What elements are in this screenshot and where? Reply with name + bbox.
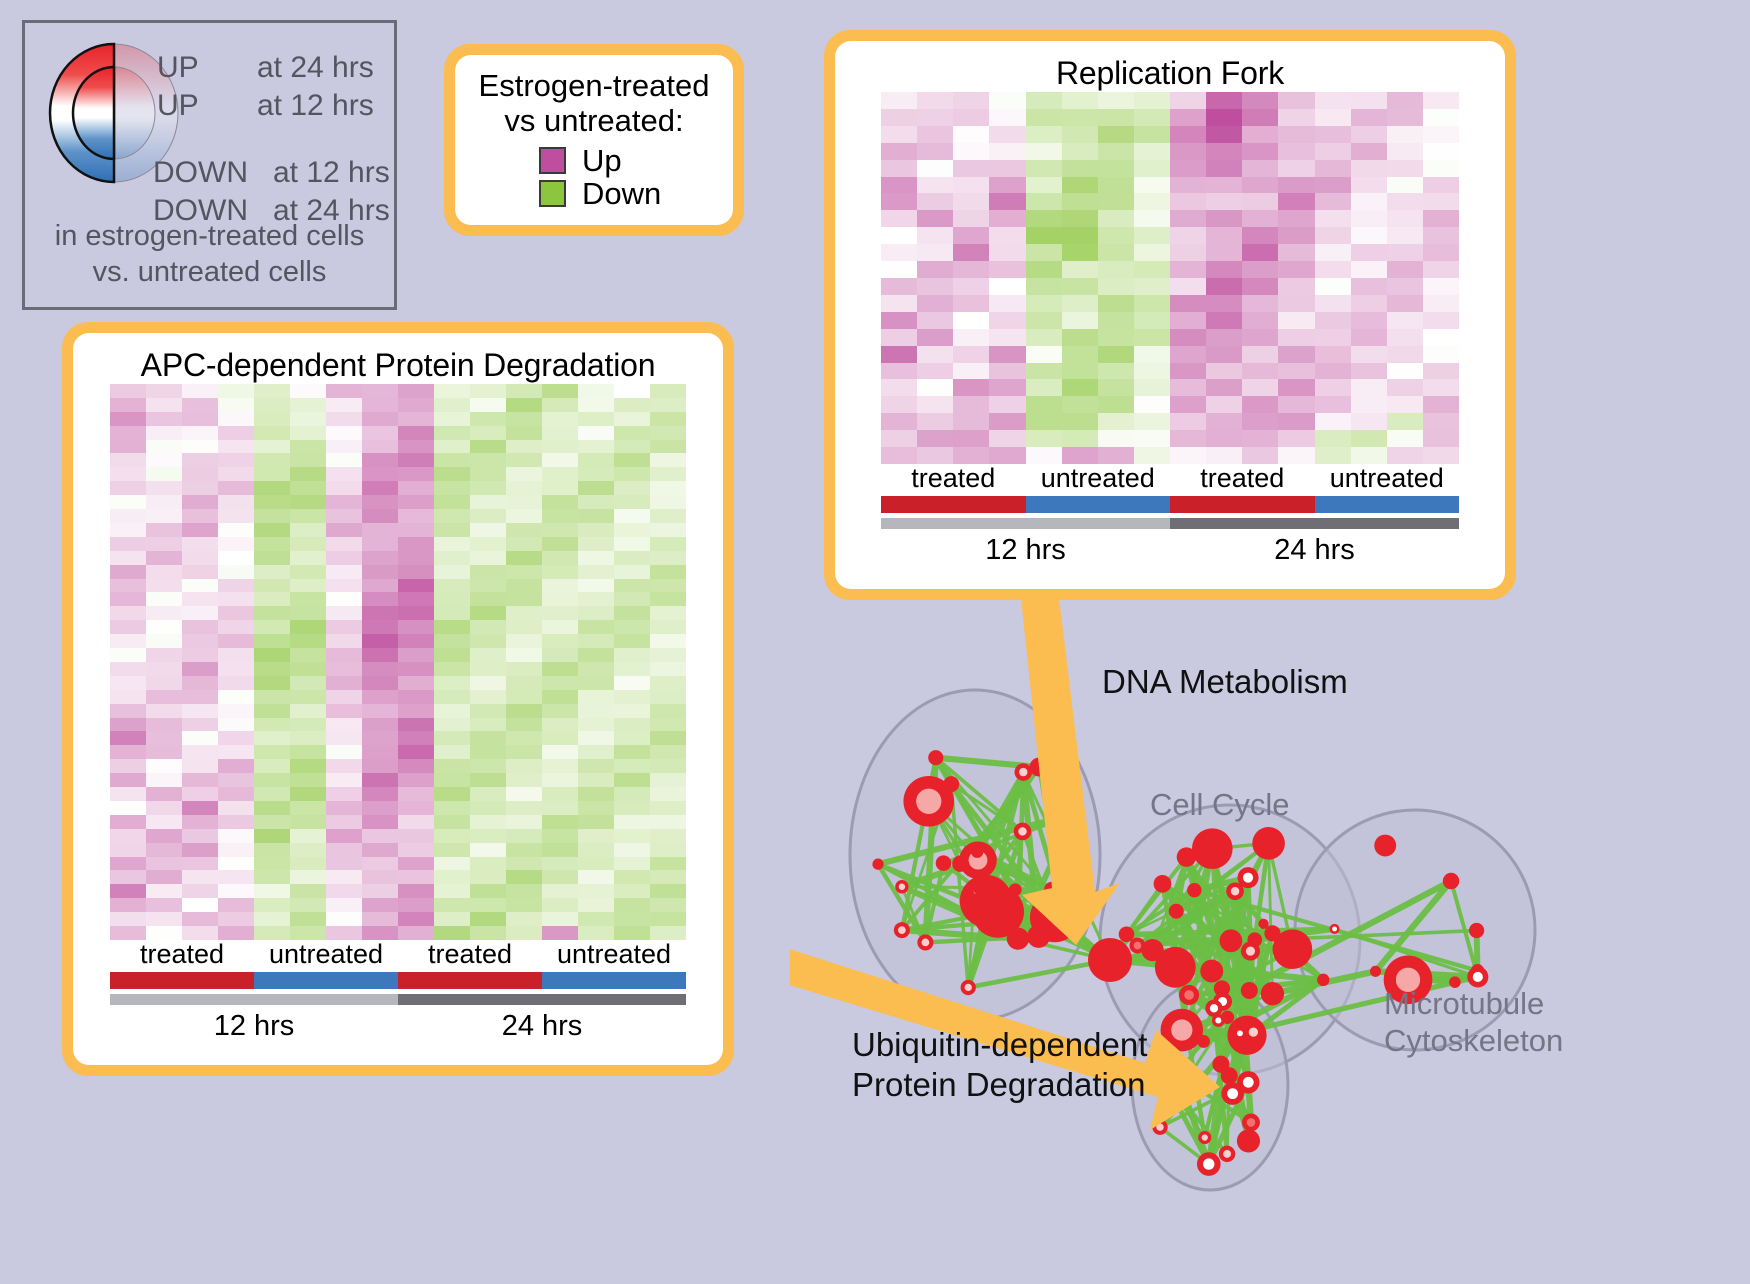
heatmap-cell <box>650 676 686 690</box>
replication-fork-heatmap <box>881 92 1459 464</box>
heatmap-cell <box>1062 430 1098 447</box>
heatmap-cell <box>290 912 326 926</box>
heatmap-cell <box>1098 430 1134 447</box>
heatmap-cell <box>614 745 650 759</box>
heatmap-cell <box>578 620 614 634</box>
heatmap-cell <box>110 398 146 412</box>
heatmap-cell <box>989 177 1025 194</box>
network-node[interactable] <box>1198 1131 1211 1144</box>
heatmap-cell <box>254 481 290 495</box>
apc-group-labels: treateduntreatedtreateduntreated <box>110 940 686 970</box>
heatmap-cell <box>470 509 506 523</box>
heatmap-cell <box>1278 447 1314 464</box>
heatmap-cell <box>506 898 542 912</box>
network-node[interactable] <box>917 934 933 950</box>
network-node[interactable] <box>1317 974 1329 986</box>
heatmap-cell <box>650 634 686 648</box>
heatmap-cell <box>1423 261 1459 278</box>
heatmap-cell <box>578 857 614 871</box>
heatmap-cell <box>650 787 686 801</box>
heatmap-cell <box>254 676 290 690</box>
heatmap-cell <box>362 579 398 593</box>
heatmap-cell <box>290 620 326 634</box>
heatmap-cell <box>1315 396 1351 413</box>
heatmap-cell <box>1387 109 1423 126</box>
heatmap-cell <box>506 620 542 634</box>
network-node[interactable] <box>971 845 984 858</box>
heatmap-cell <box>989 261 1025 278</box>
pathway-network-diagram: DNA Metabolism Cell Cycle Microtubule Cy… <box>790 600 1750 1279</box>
heatmap-cell <box>1170 261 1206 278</box>
network-node[interactable] <box>1261 982 1284 1005</box>
network-node[interactable] <box>1329 924 1339 934</box>
group-label-treated-0: treated <box>110 940 254 970</box>
heatmap-cell <box>650 857 686 871</box>
heatmap-cell <box>1026 261 1062 278</box>
heatmap-cell <box>542 662 578 676</box>
group-label-untreated-1: untreated <box>254 940 398 970</box>
heatmap-cell <box>470 495 506 509</box>
heatmap-cell <box>182 843 218 857</box>
heatmap-cell <box>398 551 434 565</box>
heatmap-cell <box>434 523 470 537</box>
heatmap-cell <box>1062 109 1098 126</box>
heatmap-cell <box>989 210 1025 227</box>
apc-degradation-panel: APC-dependent Protein Degradation treate… <box>62 322 734 1076</box>
heatmap-cell <box>182 662 218 676</box>
network-node[interactable] <box>1119 926 1135 942</box>
wheel-caption-line2: vs. untreated cells <box>25 254 394 290</box>
network-node[interactable] <box>1241 982 1258 999</box>
heatmap-cell <box>434 676 470 690</box>
heatmap-cell <box>1423 312 1459 329</box>
heatmap-cell <box>1242 143 1278 160</box>
network-node[interactable] <box>872 859 883 870</box>
heatmap-cell <box>290 676 326 690</box>
heatmap-cell <box>1315 126 1351 143</box>
heatmap-cell <box>218 898 254 912</box>
heatmap-cell <box>542 884 578 898</box>
heatmap-cell <box>881 430 917 447</box>
network-node[interactable] <box>1443 873 1459 889</box>
heatmap-cell <box>953 295 989 312</box>
heatmap-cell <box>614 829 650 843</box>
heatmap-cell <box>1206 160 1242 177</box>
heatmap-cell <box>254 523 290 537</box>
heatmap-cell <box>110 884 146 898</box>
heatmap-cell <box>326 453 362 467</box>
heatmap-cell <box>290 745 326 759</box>
heatmap-cell <box>362 801 398 815</box>
heatmap-cell <box>881 413 917 430</box>
heatmap-cell <box>1351 160 1387 177</box>
heatmap-cell <box>1242 447 1278 464</box>
heatmap-cell <box>326 634 362 648</box>
heatmap-cell <box>578 467 614 481</box>
heatmap-cell <box>290 926 326 940</box>
heatmap-cell <box>146 565 182 579</box>
heatmap-cell <box>326 592 362 606</box>
heatmap-cell <box>470 565 506 579</box>
heatmap-cell <box>110 579 146 593</box>
heatmap-cell <box>110 815 146 829</box>
heatmap-cell <box>1423 227 1459 244</box>
heatmap-cell <box>578 704 614 718</box>
heatmap-cell <box>1423 363 1459 380</box>
heatmap-cell <box>1134 227 1170 244</box>
heatmap-cell <box>182 592 218 606</box>
heatmap-cell <box>290 704 326 718</box>
heatmap-cell <box>1387 363 1423 380</box>
heatmap-cell <box>254 857 290 871</box>
network-node[interactable] <box>1244 1022 1263 1041</box>
wheel-caption: in estrogen-treated cells vs. untreated … <box>25 218 394 291</box>
heatmap-cell <box>506 565 542 579</box>
heatmap-cell <box>1423 92 1459 109</box>
heatmap-cell <box>290 731 326 745</box>
heatmap-cell <box>146 801 182 815</box>
heatmap-cell <box>1351 210 1387 227</box>
network-node[interactable] <box>1234 1027 1246 1039</box>
heatmap-cell <box>362 481 398 495</box>
heatmap-cell <box>614 579 650 593</box>
network-node[interactable] <box>1014 823 1032 841</box>
network-node[interactable] <box>1088 938 1132 982</box>
network-node[interactable] <box>1142 939 1164 961</box>
network-node[interactable] <box>1197 1035 1210 1048</box>
heatmap-cell <box>434 467 470 481</box>
network-node[interactable] <box>1154 875 1172 893</box>
heatmap-cell <box>614 509 650 523</box>
network-node[interactable] <box>1219 1146 1235 1162</box>
heatmap-cell <box>182 551 218 565</box>
heatmap-cell <box>218 704 254 718</box>
condition-bar-segment-0 <box>110 972 254 989</box>
heatmap-cell <box>362 467 398 481</box>
heatmap-cell <box>110 801 146 815</box>
heatmap-cell <box>290 801 326 815</box>
network-node[interactable] <box>1252 827 1285 860</box>
heatmap-cell <box>326 606 362 620</box>
network-node[interactable] <box>1205 1000 1222 1017</box>
heatmap-cell <box>578 676 614 690</box>
heatmap-cell <box>506 787 542 801</box>
heatmap-cell <box>1062 379 1098 396</box>
heatmap-cell <box>881 346 917 363</box>
heatmap-cell <box>614 620 650 634</box>
heatmap-cell <box>398 565 434 579</box>
network-node[interactable] <box>1221 1011 1234 1024</box>
heatmap-cell <box>578 926 614 940</box>
heatmap-cell <box>470 704 506 718</box>
network-node[interactable] <box>943 776 959 792</box>
heatmap-cell <box>1315 379 1351 396</box>
heatmap-cell <box>578 690 614 704</box>
heatmap-cell <box>1026 430 1062 447</box>
heatmap-cell <box>1170 244 1206 261</box>
heatmap-cell <box>578 453 614 467</box>
heatmap-cell <box>578 912 614 926</box>
heatmap-cell <box>578 759 614 773</box>
heatmap-cell <box>506 648 542 662</box>
heatmap-cell <box>182 634 218 648</box>
heatmap-cell <box>254 870 290 884</box>
heatmap-cell <box>182 745 218 759</box>
heatmap-cell <box>1315 413 1351 430</box>
heatmap-cell <box>182 620 218 634</box>
heatmap-cell <box>881 244 917 261</box>
heatmap-cell <box>1134 278 1170 295</box>
heatmap-cell <box>218 773 254 787</box>
wheel-label-up-24: UP <box>157 53 199 83</box>
heatmap-cell <box>290 634 326 648</box>
heatmap-cell <box>362 384 398 398</box>
network-node[interactable] <box>973 880 989 896</box>
heatmap-cell <box>578 662 614 676</box>
heatmap-cell <box>1351 363 1387 380</box>
heatmap-cell <box>578 634 614 648</box>
heatmap-cell <box>1387 346 1423 363</box>
heatmap-cell <box>1026 363 1062 380</box>
time-label-0: 12 hrs <box>110 1005 398 1043</box>
network-node[interactable] <box>936 855 952 871</box>
heatmap-cell <box>434 634 470 648</box>
heatmap-cell <box>254 495 290 509</box>
legend-label-down: Down <box>582 178 661 209</box>
heatmap-cell <box>917 143 953 160</box>
heatmap-cell <box>218 801 254 815</box>
wheel-label-up-12: UP <box>157 91 199 121</box>
heatmap-cell <box>398 592 434 606</box>
heatmap-cell <box>470 648 506 662</box>
network-node[interactable] <box>1015 763 1032 780</box>
heatmap-cell <box>1134 177 1170 194</box>
heatmap-cell <box>326 731 362 745</box>
heatmap-cell <box>218 565 254 579</box>
heatmap-cell <box>398 509 434 523</box>
heatmap-cell <box>1062 295 1098 312</box>
heatmap-cell <box>650 509 686 523</box>
heatmap-cell <box>182 829 218 843</box>
heatmap-cell <box>362 759 398 773</box>
heatmap-cell <box>1278 193 1314 210</box>
heatmap-cell <box>1098 109 1134 126</box>
heatmap-cell <box>398 481 434 495</box>
heatmap-cell <box>398 648 434 662</box>
heatmap-cell <box>953 160 989 177</box>
heatmap-cell <box>362 690 398 704</box>
heatmap-cell <box>470 384 506 398</box>
heatmap-cell <box>326 815 362 829</box>
heatmap-cell <box>110 926 146 940</box>
heatmap-cell <box>650 523 686 537</box>
heatmap-cell <box>506 579 542 593</box>
heatmap-cell <box>1098 295 1134 312</box>
heatmap-cell <box>326 843 362 857</box>
network-node[interactable] <box>1212 1056 1229 1073</box>
heatmap-cell <box>542 606 578 620</box>
heatmap-cell <box>1351 92 1387 109</box>
network-node[interactable] <box>1237 1129 1260 1152</box>
heatmap-cell <box>470 398 506 412</box>
network-node[interactable] <box>1187 883 1201 897</box>
heatmap-cell <box>146 384 182 398</box>
heatmap-cell <box>146 634 182 648</box>
heatmap-cell <box>398 495 434 509</box>
heatmap-cell <box>434 926 470 940</box>
heatmap-cell <box>881 312 917 329</box>
heatmap-cell <box>542 551 578 565</box>
heatmap-cell <box>650 731 686 745</box>
heatmap-cell <box>1098 92 1134 109</box>
heatmap-cell <box>1098 346 1134 363</box>
heatmap-cell <box>1423 295 1459 312</box>
heatmap-cell <box>470 426 506 440</box>
heatmap-cell <box>1026 295 1062 312</box>
heatmap-cell <box>470 884 506 898</box>
network-node[interactable] <box>1192 828 1233 869</box>
heatmap-cell <box>1134 396 1170 413</box>
heatmap-cell <box>398 745 434 759</box>
network-node[interactable] <box>1264 925 1280 941</box>
heatmap-cell <box>110 592 146 606</box>
network-node[interactable] <box>1197 1152 1221 1176</box>
network-node[interactable] <box>1242 1113 1260 1131</box>
network-node[interactable] <box>1177 847 1196 866</box>
condition-bar-segment-1 <box>254 972 398 989</box>
heatmap-cell <box>1170 430 1206 447</box>
heatmap-cell <box>542 773 578 787</box>
network-node[interactable] <box>894 922 910 938</box>
heatmap-cell <box>1278 177 1314 194</box>
heatmap-cell <box>398 926 434 940</box>
heatmap-cell <box>1387 210 1423 227</box>
heatmap-cell <box>650 426 686 440</box>
heatmap-cell <box>218 467 254 481</box>
heatmap-cell <box>917 346 953 363</box>
network-node[interactable] <box>1169 904 1184 919</box>
heatmap-cell <box>146 509 182 523</box>
heatmap-cell <box>470 551 506 565</box>
heatmap-cell <box>182 676 218 690</box>
network-node[interactable] <box>1179 985 1199 1005</box>
heatmap-cell <box>326 648 362 662</box>
heatmap-cell <box>1062 193 1098 210</box>
heatmap-cell <box>1351 143 1387 160</box>
heatmap-cell <box>1134 244 1170 261</box>
heatmap-cell <box>218 731 254 745</box>
network-node[interactable] <box>1241 942 1260 961</box>
heatmap-cell <box>362 857 398 871</box>
heatmap-cell <box>110 523 146 537</box>
heatmap-cell <box>146 481 182 495</box>
network-node[interactable] <box>1370 966 1381 977</box>
heatmap-cell <box>434 870 470 884</box>
network-node[interactable] <box>1221 1082 1244 1105</box>
heatmap-cell <box>881 109 917 126</box>
heatmap-cell <box>881 227 917 244</box>
network-node[interactable] <box>1027 925 1050 948</box>
heatmap-cell <box>362 495 398 509</box>
network-node[interactable] <box>1007 927 1029 949</box>
network-node[interactable] <box>952 856 968 872</box>
heatmap-cell <box>326 384 362 398</box>
network-node[interactable] <box>1374 835 1396 857</box>
network-node[interactable] <box>1200 960 1223 983</box>
heatmap-cell <box>1387 312 1423 329</box>
heatmap-cell <box>362 884 398 898</box>
heatmap-cell <box>989 244 1025 261</box>
heatmap-cell <box>542 537 578 551</box>
network-node[interactable] <box>895 880 908 893</box>
heatmap-cell <box>953 143 989 160</box>
heatmap-cell <box>146 912 182 926</box>
network-node[interactable] <box>1469 923 1484 938</box>
heatmap-cell <box>1315 92 1351 109</box>
network-node[interactable] <box>928 750 943 765</box>
heatmap-cell <box>398 829 434 843</box>
heatmap-cell <box>578 731 614 745</box>
legend-item-down: Down <box>539 178 733 209</box>
heatmap-cell <box>1242 244 1278 261</box>
heatmap-cell <box>506 926 542 940</box>
heatmap-cell <box>614 676 650 690</box>
heatmap-cell <box>110 787 146 801</box>
heatmap-cell <box>218 829 254 843</box>
heatmap-cell <box>1351 346 1387 363</box>
heatmap-cell <box>917 430 953 447</box>
heatmap-cell <box>398 579 434 593</box>
heatmap-cell <box>218 870 254 884</box>
heatmap-cell <box>989 363 1025 380</box>
network-node[interactable] <box>1219 929 1242 952</box>
heatmap-cell <box>578 384 614 398</box>
heatmap-cell <box>1423 143 1459 160</box>
network-node[interactable] <box>1009 883 1022 896</box>
heatmap-cell <box>470 690 506 704</box>
heatmap-cell <box>470 731 506 745</box>
heatmap-cell <box>989 295 1025 312</box>
network-node[interactable] <box>961 980 976 995</box>
heatmap-cell <box>1315 346 1351 363</box>
heatmap-cell <box>326 467 362 481</box>
expression-direction-legend: UP at 24 hrs UP at 12 hrs DOWN at 12 hrs… <box>22 20 397 310</box>
heatmap-cell <box>614 495 650 509</box>
heatmap-cell <box>326 773 362 787</box>
heatmap-cell <box>917 160 953 177</box>
heatmap-cell <box>398 857 434 871</box>
heatmap-cell <box>542 787 578 801</box>
heatmap-cell <box>470 745 506 759</box>
heatmap-cell <box>470 759 506 773</box>
heatmap-cell <box>398 453 434 467</box>
heatmap-cell <box>146 495 182 509</box>
heatmap-cell <box>989 346 1025 363</box>
heatmap-cell <box>326 857 362 871</box>
heatmap-cell <box>1206 379 1242 396</box>
heatmap-cell <box>218 662 254 676</box>
network-node[interactable] <box>1226 882 1244 900</box>
heatmap-cell <box>542 926 578 940</box>
heatmap-cell <box>1423 210 1459 227</box>
network-label-microtubule-cytoskeleton: Microtubule Cytoskeleton <box>1384 985 1563 1059</box>
heatmap-cell <box>506 912 542 926</box>
heatmap-cell <box>1278 379 1314 396</box>
apc-time-bar <box>110 994 686 1005</box>
heatmap-cell <box>254 509 290 523</box>
heatmap-cell <box>542 634 578 648</box>
heatmap-cell <box>470 412 506 426</box>
